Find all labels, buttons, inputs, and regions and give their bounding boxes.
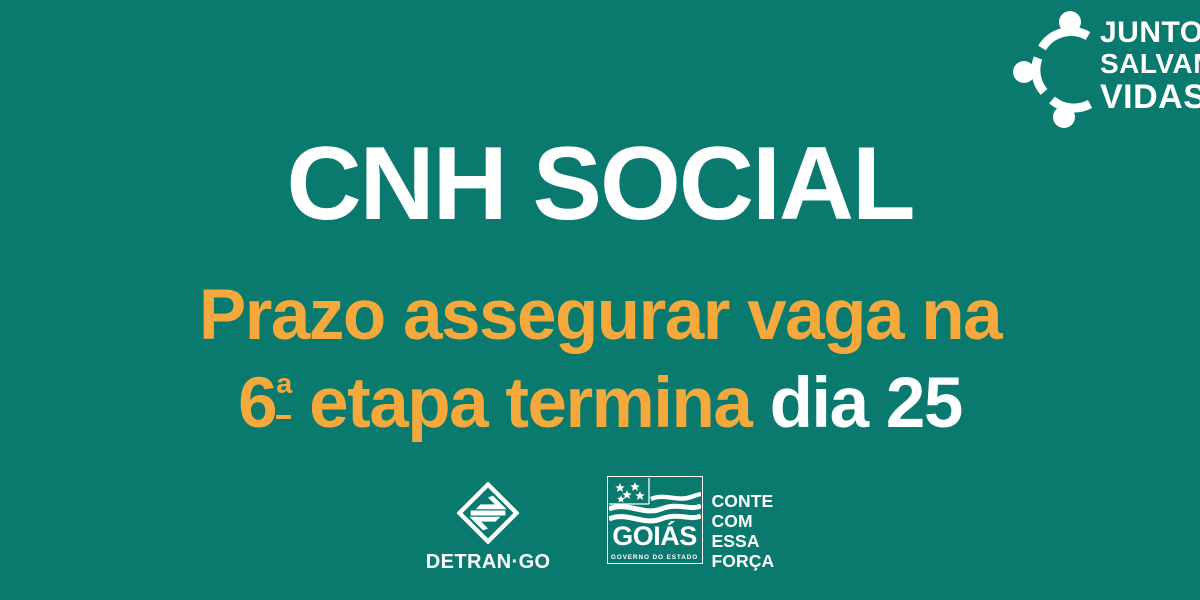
subtitle-line-1: Prazo assegurar vaga na (0, 280, 1200, 351)
detran-diamond-emblem (457, 482, 519, 544)
campaign-word-line-1: JUNTOS (1100, 18, 1200, 48)
juntos-salvamos-vidas-symbol (1012, 10, 1112, 128)
campaign-mark: JUNTOS SALVAMOS VIDAS (1012, 4, 1200, 134)
detran-go-logo: DETRAN·GO (426, 476, 551, 574)
goias-slogan-line-1: CONTE (712, 492, 775, 512)
campaign-word-line-2: SALVAMOS (1100, 50, 1200, 78)
campaign-word-line-3: VIDAS (1100, 80, 1200, 114)
goias-wordmark: GOIÁS (608, 523, 702, 550)
detran-wordmark: DETRAN·GO (426, 551, 551, 574)
goias-emblem-box: GOIÁS GOVERNO DO ESTADO (607, 476, 703, 564)
cnh-social-banner: JUNTOS SALVAMOS VIDAS CNH SOCIAL Prazo a… (0, 0, 1200, 600)
headline-block: CNH SOCIAL Prazo assegurar vaga na 6ª et… (0, 132, 1200, 439)
goias-government-label: GOVERNO DO ESTADO (608, 555, 702, 561)
ordinal-indicator: ª (276, 370, 291, 419)
subtitle-line-2: 6ª etapa termina dia 25 (0, 368, 1200, 439)
etapa-number: 6 (238, 364, 276, 443)
goias-slogan: CONTE COM ESSA FORÇA (712, 476, 775, 572)
page-title: CNH SOCIAL (0, 132, 1200, 236)
logo-strip: DETRAN·GO (0, 476, 1200, 586)
etapa-text: etapa termina (291, 364, 751, 443)
goias-government-logo: GOIÁS GOVERNO DO ESTADO CONTE COM ESSA F… (607, 476, 775, 572)
goias-slogan-line-3: ESSA (712, 532, 775, 552)
goias-slogan-line-2: COM (712, 512, 775, 532)
goias-slogan-line-4: FORÇA (712, 552, 775, 572)
deadline-day: dia 25 (770, 364, 962, 443)
campaign-wordmark: JUNTOS SALVAMOS VIDAS (1100, 18, 1200, 114)
